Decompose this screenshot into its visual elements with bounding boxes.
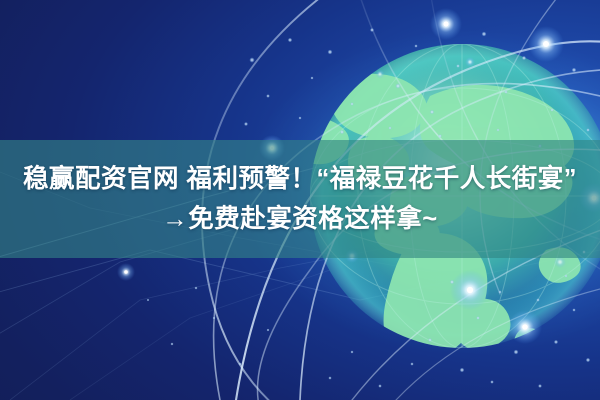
banner-image: 稳赢配资官网 福利预警！“福禄豆花千人长街宴” →免费赴宴资格这样拿~ xyxy=(0,0,600,400)
headline: 稳赢配资官网 福利预警！“福禄豆花千人长街宴” →免费赴宴资格这样拿~ xyxy=(0,140,600,258)
headline-line-2: →免费赴宴资格这样拿~ xyxy=(162,199,437,239)
headline-line-1: 稳赢配资官网 福利预警！“福禄豆花千人长街宴” xyxy=(23,159,577,199)
